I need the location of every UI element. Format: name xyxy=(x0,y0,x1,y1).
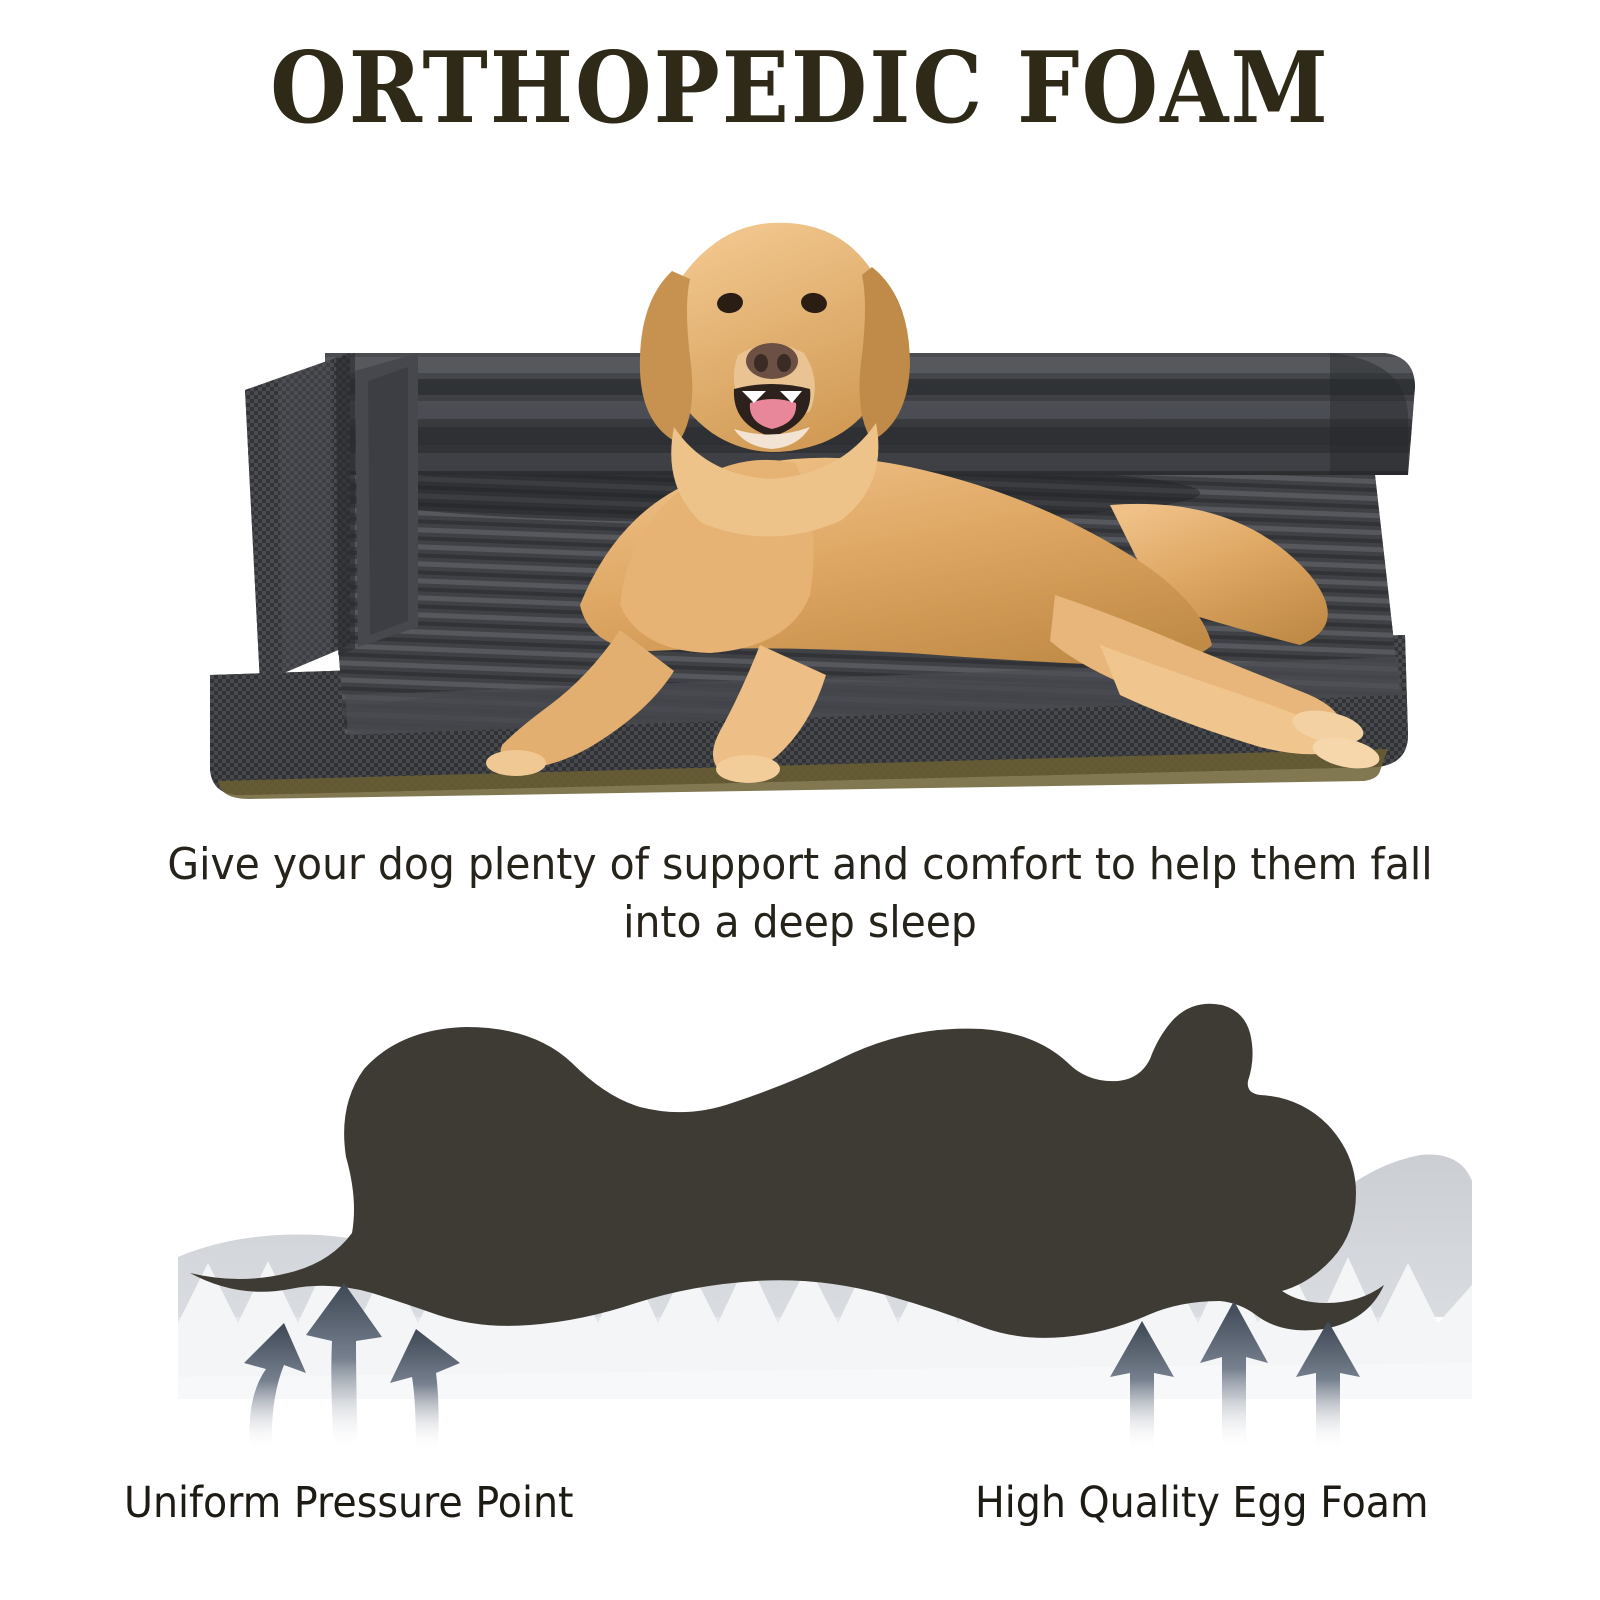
subtitle: Give your dog plenty of support and comf… xyxy=(140,836,1461,952)
caption-high-quality-egg-foam: High Quality Egg Foam xyxy=(975,1478,1429,1528)
caption-uniform-pressure-point: Uniform Pressure Point xyxy=(124,1478,574,1528)
page-title: ORTHOPEDIC FOAM xyxy=(0,36,1600,139)
foam-cutaway-diagram xyxy=(120,985,1480,1455)
subtitle-line-1: Give your dog plenty of support and comf… xyxy=(167,839,1432,890)
subtitle-line-2: into a deep sleep xyxy=(140,894,1461,952)
product-photo xyxy=(150,175,1450,815)
